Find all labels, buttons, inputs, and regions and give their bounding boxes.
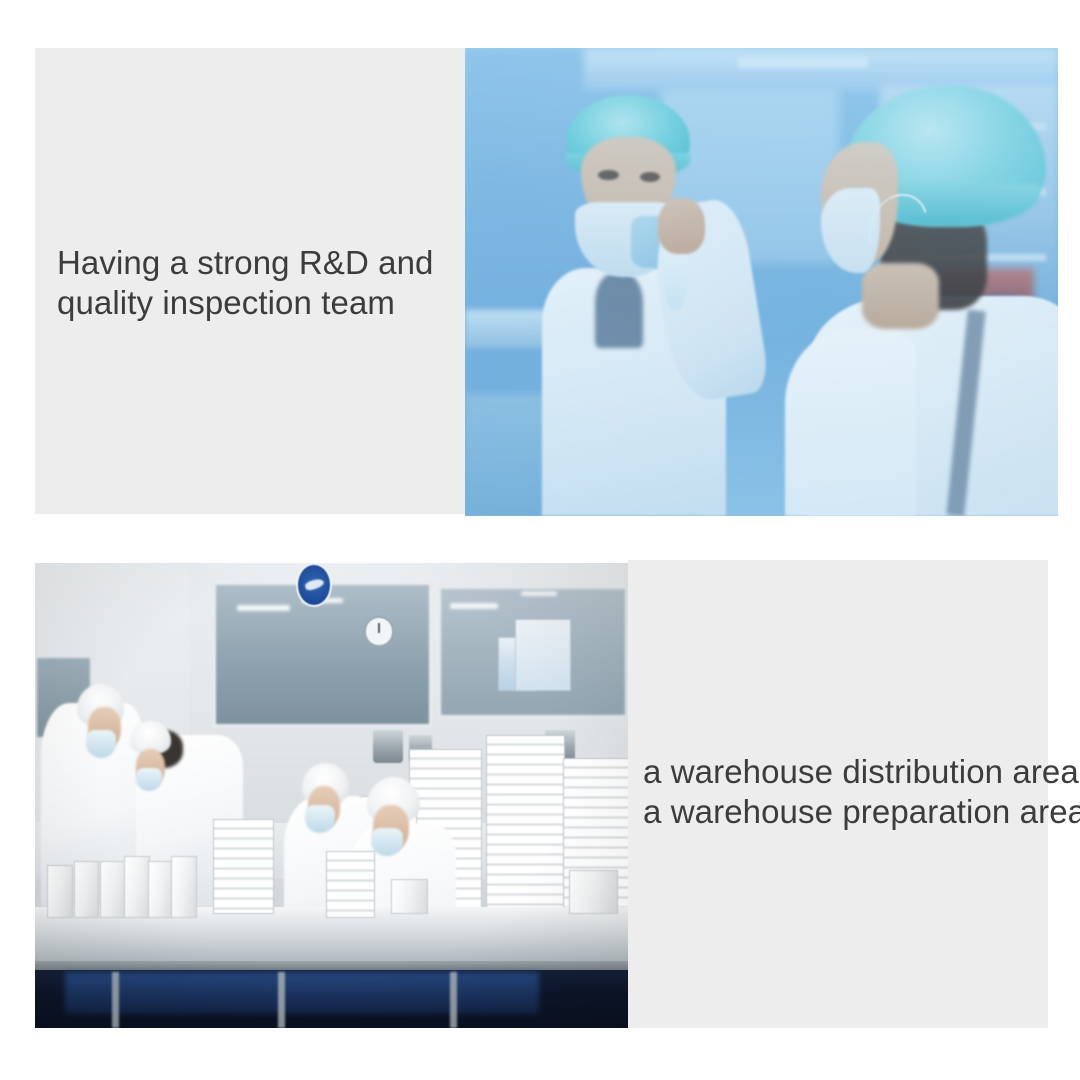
carton — [74, 861, 100, 919]
worker-a-hand — [658, 198, 705, 254]
carton — [391, 879, 429, 914]
laboratory-scene — [465, 48, 1058, 516]
table-leg — [112, 972, 119, 1028]
worker-b-neck — [862, 263, 939, 329]
carton-stack — [486, 735, 565, 909]
carton — [47, 865, 73, 918]
top-caption: Having a strong R&D and quality inspecti… — [57, 243, 434, 323]
carton — [569, 870, 618, 914]
ceiling-light-icon — [450, 603, 497, 609]
worker-b-shoulder — [785, 329, 915, 516]
carton — [124, 856, 150, 918]
carton — [100, 861, 126, 919]
worker-a-collar — [595, 273, 642, 348]
carton — [171, 856, 197, 918]
table-leg — [450, 972, 457, 1028]
ceiling-light-icon — [237, 605, 290, 612]
blue-circular-sign-icon — [296, 563, 332, 607]
warehouse-packing-photo — [35, 563, 628, 1028]
banner-page: Having a strong R&D and quality inspecti… — [0, 0, 1080, 1080]
carton-stack — [213, 819, 274, 914]
worker-4-face-mask — [371, 828, 404, 856]
worker-1-face-mask — [86, 730, 116, 758]
bottom-caption: a warehouse distribution area a warehous… — [643, 752, 1080, 832]
table-leg — [278, 972, 285, 1028]
rnd-quality-inspection-photo — [465, 48, 1058, 516]
packing-room-scene — [35, 563, 628, 1028]
worker-a-eye — [598, 170, 618, 180]
worker-3-face-mask — [305, 805, 335, 833]
carton — [148, 861, 174, 919]
wall-notice-board — [515, 619, 570, 691]
worker-2-face-mask — [136, 768, 163, 791]
ceiling-light-icon — [738, 57, 868, 67]
wall-clock-icon — [364, 616, 393, 646]
steel-container — [373, 730, 403, 763]
floor-reflection — [65, 972, 539, 1014]
lab-ceiling — [584, 48, 1058, 90]
ceiling-light-icon — [521, 591, 557, 597]
carton-stack — [326, 851, 375, 918]
